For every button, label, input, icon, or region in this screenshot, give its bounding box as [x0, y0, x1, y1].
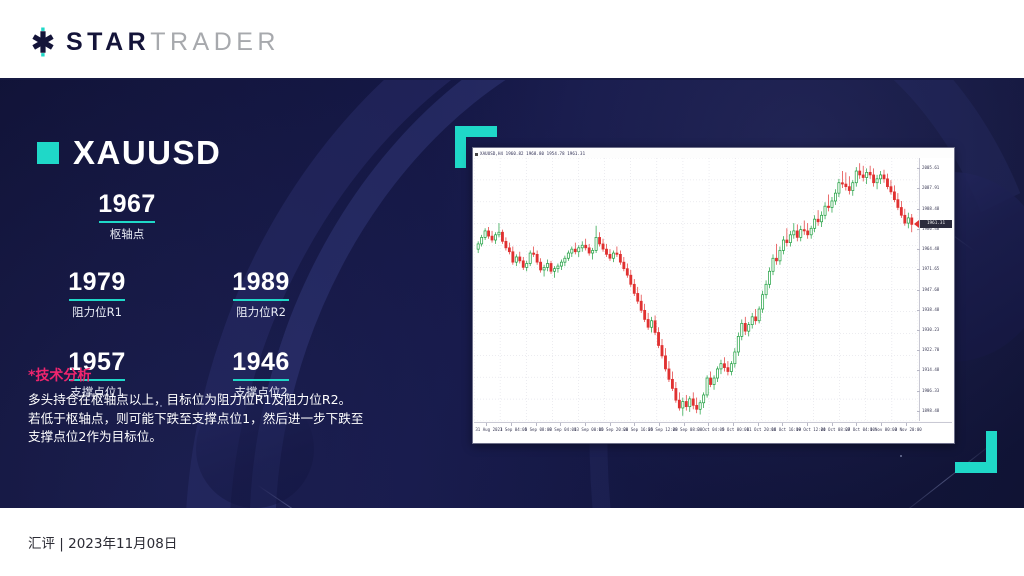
time-tick: [832, 423, 833, 426]
level-r1: 1979 阻力位R1: [37, 268, 157, 320]
price-tick-label: 1930.23: [922, 327, 939, 333]
price-tick: [917, 209, 920, 210]
price-tick-label: 1947.68: [922, 287, 939, 293]
price-tick-label: 1906.33: [922, 388, 939, 394]
technical-analysis: *技术分析 多头持仓在枢轴点以上，目标位为阻力位R1及阻力位R2。 若低于枢轴点…: [28, 366, 428, 447]
time-tick-label: 1 Nov 00:00: [870, 426, 897, 433]
level-value: 1989: [201, 268, 321, 297]
corner-bracket-bottom-right: [955, 431, 997, 473]
level-label: 阻力位R1: [37, 305, 157, 320]
chart-title-text: XAUUSD,H4 1960.82 1968.80 1954.78 1961.3…: [480, 151, 585, 156]
level-r2: 1989 阻力位R2: [201, 268, 321, 320]
time-tick: [807, 423, 808, 426]
page-header: STARTRADER: [0, 0, 1024, 80]
instrument-title: XAUUSD: [37, 136, 221, 169]
analysis-heading: *技术分析: [28, 366, 428, 386]
time-tick: [708, 423, 709, 426]
price-tick-label: 1914.48: [922, 367, 939, 373]
level-label: 阻力位R2: [201, 305, 321, 320]
analysis-line-3: 支撑点位2作为目标位。: [28, 428, 428, 447]
resistance-row: 1979 阻力位R1 1989 阻力位R2: [37, 268, 347, 332]
poster-root: STARTRADER XAUUSD 1967 枢轴点: [0, 0, 1024, 576]
brand-logo[interactable]: STARTRADER: [28, 27, 280, 57]
analysis-line-2: 若低于枢轴点，则可能下跌至支撑点位1，然后进一步下跌至: [28, 410, 428, 429]
level-value: 1979: [37, 268, 157, 297]
time-tick: [560, 423, 561, 426]
candlestick-svg: [474, 158, 918, 421]
price-tick-label: 1988.48: [922, 206, 939, 212]
level-underline: [99, 221, 155, 223]
price-tick: [917, 330, 920, 331]
price-tick: [917, 269, 920, 270]
price-tick-label: 1971.65: [922, 266, 939, 272]
time-tick-label: 5 Sep 08:00: [525, 426, 552, 433]
time-tick: [486, 423, 487, 426]
level-pivot: 1967 枢轴点: [67, 190, 187, 242]
price-tick: [917, 249, 920, 250]
level-underline: [233, 299, 289, 301]
time-tick-label: 8 Sep 04:00: [549, 426, 576, 433]
price-tick: [917, 290, 920, 291]
price-tick: [917, 310, 920, 311]
time-tick: [758, 423, 759, 426]
time-axis[interactable]: 31 Aug 20231 Sep 04:005 Sep 08:008 Sep 0…: [474, 422, 952, 442]
time-tick-label: 3 Nov 20:00: [895, 426, 922, 433]
chart-title-marker-icon: [475, 153, 478, 156]
price-tick-label: 1898.48: [922, 408, 939, 414]
time-tick: [659, 423, 660, 426]
time-tick: [511, 423, 512, 426]
page-title: XAUUSD: [73, 136, 221, 169]
current-price-arrow-icon: [914, 220, 919, 228]
analysis-line-1: 多头持仓在枢轴点以上，目标位为阻力位R1及阻力位R2。: [28, 391, 428, 410]
pivot-row: 1967 枢轴点: [37, 190, 347, 254]
price-tick: [917, 188, 920, 189]
time-tick: [733, 423, 734, 426]
page-footer: 汇评 | 2023年11月08日: [0, 508, 1024, 576]
time-tick: [782, 423, 783, 426]
time-tick-label: 3 Oct 04:00: [697, 426, 724, 433]
price-tick: [917, 411, 920, 412]
price-tick-label: 1922.70: [922, 347, 939, 353]
price-tick: [917, 391, 920, 392]
time-tick: [906, 423, 907, 426]
time-tick: [585, 423, 586, 426]
time-tick: [684, 423, 685, 426]
time-tick-label: 5 Oct 00:00: [722, 426, 749, 433]
time-tick: [536, 423, 537, 426]
time-tick: [634, 423, 635, 426]
time-tick: [881, 423, 882, 426]
decor-dot-2: [900, 455, 902, 457]
level-label: 枢轴点: [67, 227, 187, 242]
current-price-tag: 1961.31: [920, 220, 952, 228]
level-underline: [69, 299, 125, 301]
brand-name-bold: STAR: [66, 28, 150, 56]
price-tick-label: 2087.91: [922, 185, 939, 191]
price-tick: [917, 229, 920, 230]
time-tick-label: 31 Aug 2023: [475, 426, 502, 433]
price-axis[interactable]: 2005.612087.911988.481980.481964.481971.…: [919, 158, 953, 421]
star-asterisk-icon: [28, 27, 58, 57]
chart-window[interactable]: XAUUSD,H4 1960.82 1968.80 1954.78 1961.3…: [472, 147, 955, 444]
square-bullet-icon: [37, 142, 59, 164]
footer-text: 汇评 | 2023年11月08日: [28, 532, 177, 552]
chart-title: XAUUSD,H4 1960.82 1968.80 1954.78 1961.3…: [475, 149, 585, 158]
chart-plot-area: [474, 158, 918, 421]
price-tick-label: 2005.61: [922, 165, 939, 171]
time-tick: [856, 423, 857, 426]
price-tick: [917, 168, 920, 169]
price-tick-label: 1964.48: [922, 246, 939, 252]
price-tick: [917, 370, 920, 371]
level-value: 1967: [67, 190, 187, 219]
price-tick: [917, 350, 920, 351]
brand-name-light: TRADER: [150, 28, 280, 56]
time-tick-label: 1 Sep 04:00: [500, 426, 527, 433]
price-tick-label: 1938.48: [922, 307, 939, 313]
time-tick: [610, 423, 611, 426]
